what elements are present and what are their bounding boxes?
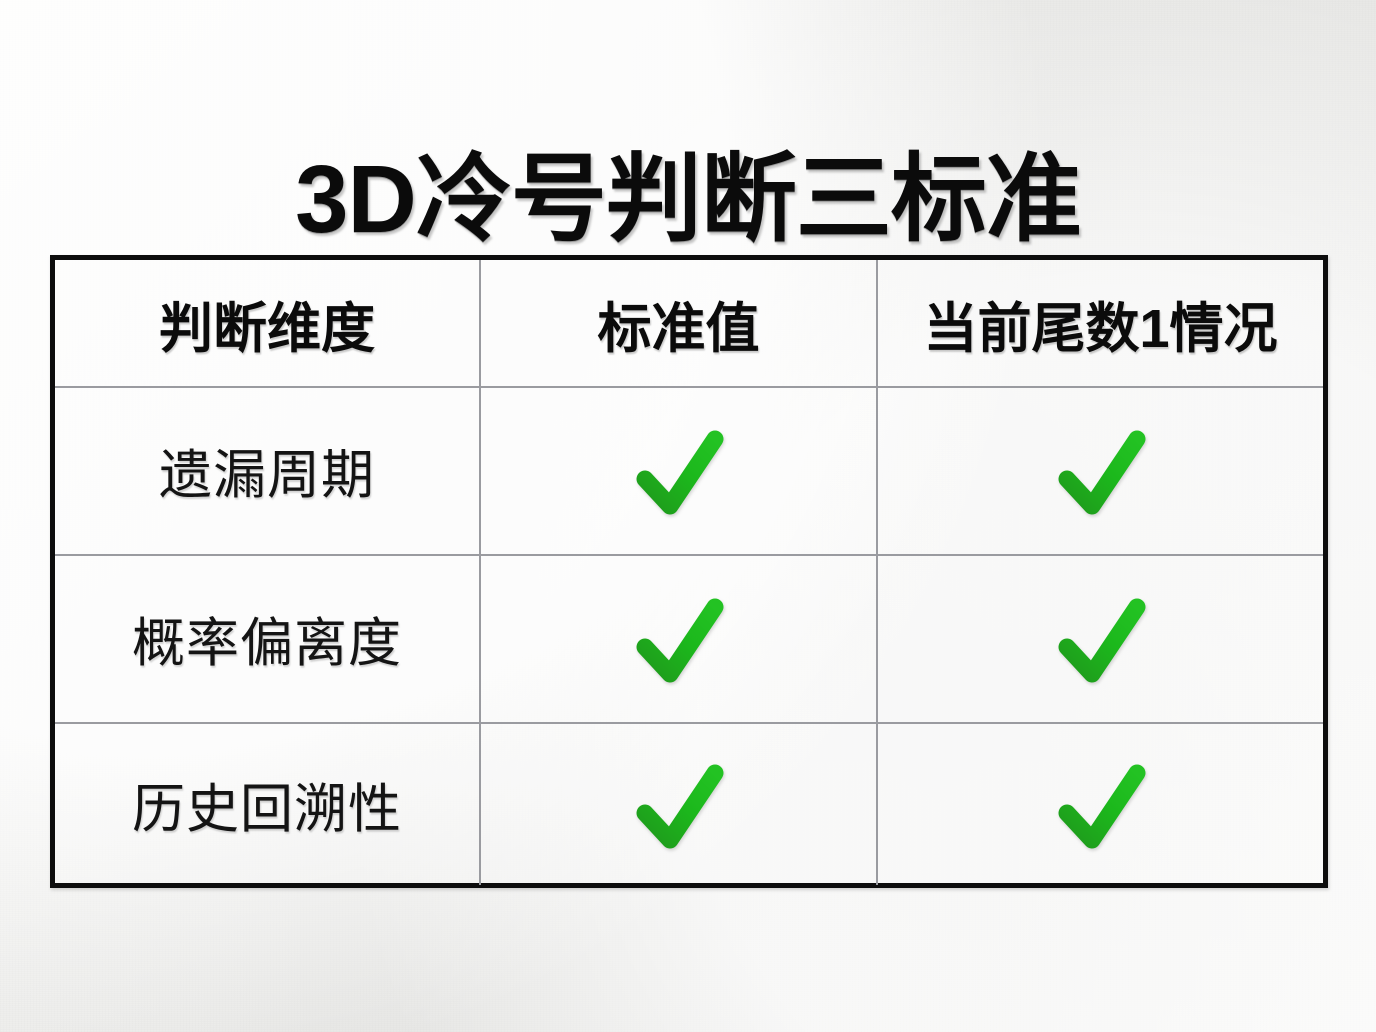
cell-standard bbox=[479, 724, 876, 885]
dimension-label: 概率偏离度 bbox=[132, 601, 402, 677]
header-label-standard: 标准值 bbox=[598, 284, 760, 363]
dimension-label: 历史回溯性 bbox=[132, 767, 402, 843]
cell-dimension: 概率偏离度 bbox=[55, 556, 479, 722]
slide-page: 3D冷号判断三标准 判断维度 标准值 当前尾数1情况 遗漏周期 bbox=[0, 0, 1376, 1032]
check-mark-icon bbox=[1047, 421, 1155, 521]
page-title: 3D冷号判断三标准 bbox=[0, 152, 1376, 248]
check-mark-icon bbox=[625, 755, 733, 855]
header-cell-current: 当前尾数1情况 bbox=[876, 260, 1323, 386]
table-row: 概率偏离度 bbox=[55, 554, 1323, 722]
table-row: 历史回溯性 bbox=[55, 722, 1323, 885]
header-cell-standard: 标准值 bbox=[479, 260, 876, 386]
check-mark-icon bbox=[1047, 589, 1155, 689]
header-cell-dimension: 判断维度 bbox=[55, 260, 479, 386]
cell-dimension: 遗漏周期 bbox=[55, 388, 479, 554]
cell-current bbox=[876, 388, 1323, 554]
table-header-row: 判断维度 标准值 当前尾数1情况 bbox=[55, 260, 1323, 386]
check-mark-icon bbox=[625, 589, 733, 689]
criteria-table: 判断维度 标准值 当前尾数1情况 遗漏周期 bbox=[50, 255, 1328, 888]
table-row: 遗漏周期 bbox=[55, 386, 1323, 554]
header-label-current: 当前尾数1情况 bbox=[923, 284, 1277, 363]
cell-current bbox=[876, 556, 1323, 722]
cell-dimension: 历史回溯性 bbox=[55, 724, 479, 885]
dimension-label: 遗漏周期 bbox=[159, 433, 375, 509]
cell-current bbox=[876, 724, 1323, 885]
cell-standard bbox=[479, 388, 876, 554]
cell-standard bbox=[479, 556, 876, 722]
check-mark-icon bbox=[1047, 755, 1155, 855]
check-mark-icon bbox=[625, 421, 733, 521]
header-label-dimension: 判断维度 bbox=[159, 284, 375, 363]
